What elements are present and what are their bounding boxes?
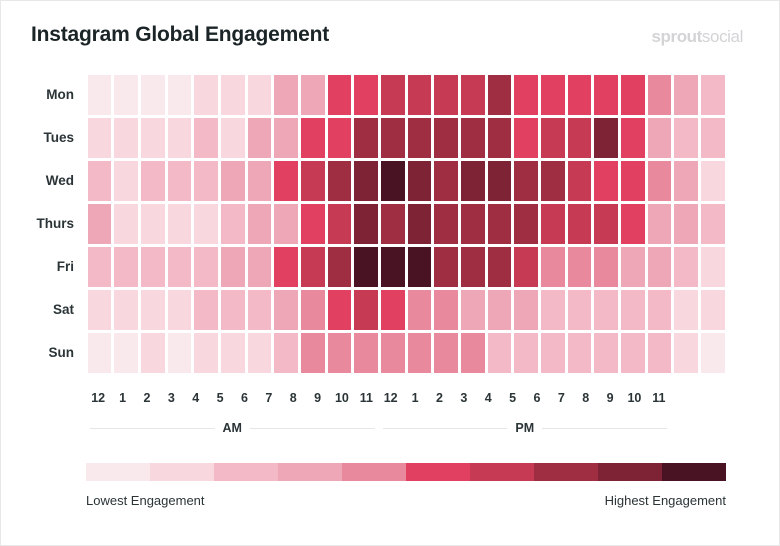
heatmap-cell[interactable]	[301, 118, 325, 158]
heatmap-cell[interactable]	[301, 247, 325, 287]
am-rule-left	[90, 428, 215, 429]
heatmap-cell[interactable]	[461, 290, 485, 330]
chart-card: Instagram Global Engagement sproutsocial…	[0, 0, 780, 546]
pm-rule-right	[542, 428, 667, 429]
heatmap-cell[interactable]	[168, 247, 192, 287]
heatmap-cell[interactable]	[274, 333, 298, 373]
heatmap-cell[interactable]	[328, 118, 352, 158]
heatmap-cell[interactable]	[701, 75, 725, 115]
heatmap-cell[interactable]	[328, 204, 352, 244]
heatmap-cell[interactable]	[194, 75, 218, 115]
heatmap-cell[interactable]	[674, 75, 698, 115]
heatmap-cell[interactable]	[461, 118, 485, 158]
heatmap-cell[interactable]	[434, 247, 458, 287]
heatmap-cell[interactable]	[674, 333, 698, 373]
heatmap-cell[interactable]	[461, 247, 485, 287]
heatmap-cell[interactable]	[248, 118, 272, 158]
heatmap-cell[interactable]	[541, 333, 565, 373]
heatmap-cell[interactable]	[88, 247, 112, 287]
heatmap-cell[interactable]	[88, 333, 112, 373]
hour-tick-7: 7	[257, 391, 281, 415]
heatmap-cell[interactable]	[328, 247, 352, 287]
heatmap-cell[interactable]	[168, 161, 192, 201]
heatmap-cell[interactable]	[354, 247, 378, 287]
brand-name-light: social	[702, 27, 743, 46]
heatmap-cell[interactable]	[594, 75, 618, 115]
legend-swatch-4	[342, 463, 406, 481]
hour-tick-2: 2	[135, 391, 159, 415]
hour-tick-18: 6	[525, 391, 549, 415]
heatmap-cell[interactable]	[114, 333, 138, 373]
hour-tick-19: 7	[549, 391, 573, 415]
heatmap-cell[interactable]	[221, 247, 245, 287]
heatmap-cell[interactable]	[354, 290, 378, 330]
legend-swatch-8	[598, 463, 662, 481]
heatmap-cell[interactable]	[354, 75, 378, 115]
heatmap-cell[interactable]	[141, 161, 165, 201]
heatmap-cell[interactable]	[248, 161, 272, 201]
heatmap-cell[interactable]	[381, 333, 405, 373]
heatmap-cell[interactable]	[488, 204, 512, 244]
hour-tick-1: 1	[110, 391, 134, 415]
heatmap-cell[interactable]	[88, 161, 112, 201]
hour-tick-12: 12	[379, 391, 403, 415]
heatmap-cell[interactable]	[648, 204, 672, 244]
day-label-tues: Tues	[1, 116, 86, 159]
heatmap-cell[interactable]	[674, 247, 698, 287]
heatmap-cell[interactable]	[594, 204, 618, 244]
day-label-thurs: Thurs	[1, 202, 86, 245]
heatmap-cell[interactable]	[381, 118, 405, 158]
heatmap-cell[interactable]	[568, 333, 592, 373]
hour-tick-14: 2	[427, 391, 451, 415]
heatmap-cell[interactable]	[621, 75, 645, 115]
sproutsocial-logo: sproutsocial	[651, 27, 743, 47]
heatmap-cell[interactable]	[328, 161, 352, 201]
color-legend: Lowest Engagement Highest Engagement	[86, 463, 726, 508]
legend-swatch-3	[278, 463, 342, 481]
heatmap-cell[interactable]	[648, 290, 672, 330]
heatmap-cell[interactable]	[514, 290, 538, 330]
heatmap-cell[interactable]	[274, 161, 298, 201]
heatmap-cell[interactable]	[301, 333, 325, 373]
heatmap-cell[interactable]	[408, 118, 432, 158]
day-label-mon: Mon	[1, 73, 86, 116]
heatmap-cell[interactable]	[621, 290, 645, 330]
heatmap-cell[interactable]	[274, 290, 298, 330]
heatmap-cell[interactable]	[168, 75, 192, 115]
heatmap-cell[interactable]	[328, 333, 352, 373]
heatmap-cell[interactable]	[408, 161, 432, 201]
heatmap-row-cells	[86, 245, 780, 288]
heatmap-cell[interactable]	[488, 118, 512, 158]
am-rule-right	[250, 428, 375, 429]
legend-swatch-2	[214, 463, 278, 481]
heatmap-cell[interactable]	[514, 247, 538, 287]
heatmap-cell[interactable]	[648, 247, 672, 287]
heatmap-cell[interactable]	[274, 204, 298, 244]
heatmap-cell[interactable]	[514, 333, 538, 373]
heatmap-cell[interactable]	[621, 247, 645, 287]
heatmap-cell[interactable]	[88, 290, 112, 330]
heatmap-cell[interactable]	[701, 204, 725, 244]
pm-group: PM	[379, 417, 672, 439]
heatmap-cell[interactable]	[674, 161, 698, 201]
hour-tick-21: 9	[598, 391, 622, 415]
day-label-sat: Sat	[1, 288, 86, 331]
day-label-sun: Sun	[1, 331, 86, 374]
heatmap-cell[interactable]	[248, 75, 272, 115]
legend-swatch-7	[534, 463, 598, 481]
heatmap-cell[interactable]	[568, 75, 592, 115]
heatmap-cell[interactable]	[194, 161, 218, 201]
am-label: AM	[223, 421, 242, 435]
heatmap-cell[interactable]	[701, 118, 725, 158]
heatmap-cell[interactable]	[354, 333, 378, 373]
heatmap-cell[interactable]	[381, 247, 405, 287]
legend-gradient-bar	[86, 463, 726, 481]
legend-swatch-5	[406, 463, 470, 481]
hour-tick-16: 4	[476, 391, 500, 415]
heatmap-cell[interactable]	[674, 204, 698, 244]
heatmap-cell[interactable]	[594, 118, 618, 158]
heatmap-cell[interactable]	[408, 290, 432, 330]
heatmap-cell[interactable]	[541, 247, 565, 287]
heatmap-cell[interactable]	[168, 118, 192, 158]
heatmap-row: Sat	[1, 288, 780, 331]
legend-swatch-6	[470, 463, 534, 481]
heatmap-cell[interactable]	[488, 290, 512, 330]
heatmap-cell[interactable]	[701, 333, 725, 373]
hour-tick-23: 11	[647, 391, 671, 415]
heatmap-cell[interactable]	[408, 75, 432, 115]
heatmap-cell[interactable]	[141, 118, 165, 158]
heatmap-cell[interactable]	[328, 290, 352, 330]
heatmap-cell[interactable]	[248, 204, 272, 244]
heatmap-cell[interactable]	[621, 204, 645, 244]
chart-header: Instagram Global Engagement sproutsocial	[1, 1, 780, 73]
heatmap-row: Fri	[1, 245, 780, 288]
heatmap-cell[interactable]	[141, 247, 165, 287]
heatmap-row: Tues	[1, 116, 780, 159]
heatmap-cell[interactable]	[434, 75, 458, 115]
pm-label: PM	[515, 421, 534, 435]
heatmap-cell[interactable]	[408, 204, 432, 244]
heatmap-cell[interactable]	[594, 290, 618, 330]
hour-tick-5: 5	[208, 391, 232, 415]
heatmap-cell[interactable]	[114, 204, 138, 244]
legend-swatch-1	[150, 463, 214, 481]
heatmap-cell[interactable]	[434, 204, 458, 244]
heatmap-cell[interactable]	[541, 75, 565, 115]
heatmap-cell[interactable]	[274, 118, 298, 158]
heatmap-cell[interactable]	[701, 247, 725, 287]
heatmap-cell[interactable]	[434, 290, 458, 330]
heatmap-cell[interactable]	[461, 161, 485, 201]
heatmap-row: Mon	[1, 73, 780, 116]
heatmap-cell[interactable]	[568, 204, 592, 244]
heatmap-cell[interactable]	[621, 161, 645, 201]
heatmap-cell[interactable]	[434, 161, 458, 201]
heatmap-cell[interactable]	[221, 118, 245, 158]
hour-tick-17: 5	[500, 391, 524, 415]
hour-tick-22: 10	[622, 391, 646, 415]
heatmap-cell[interactable]	[381, 75, 405, 115]
heatmap-cell[interactable]	[514, 161, 538, 201]
heatmap-row: Thurs	[1, 202, 780, 245]
heatmap-cell[interactable]	[328, 75, 352, 115]
heatmap-cell[interactable]	[354, 118, 378, 158]
heatmap-cell[interactable]	[114, 247, 138, 287]
day-label-fri: Fri	[1, 245, 86, 288]
heatmap-cell[interactable]	[408, 247, 432, 287]
heatmap-cell[interactable]	[114, 290, 138, 330]
day-label-wed: Wed	[1, 159, 86, 202]
heatmap-cell[interactable]	[248, 290, 272, 330]
heatmap-row: Wed	[1, 159, 780, 202]
hour-tick-13: 1	[403, 391, 427, 415]
heatmap-cell[interactable]	[488, 333, 512, 373]
heatmap-cell[interactable]	[514, 118, 538, 158]
heatmap-cell[interactable]	[248, 247, 272, 287]
legend-swatch-0	[86, 463, 150, 481]
heatmap-cell[interactable]	[221, 290, 245, 330]
heatmap-cell[interactable]	[648, 161, 672, 201]
heatmap-cell[interactable]	[248, 333, 272, 373]
heatmap-cell[interactable]	[274, 247, 298, 287]
legend-swatch-9	[662, 463, 726, 481]
heatmap-cell[interactable]	[408, 333, 432, 373]
heatmap-cell[interactable]	[381, 290, 405, 330]
heatmap-cell[interactable]	[621, 118, 645, 158]
heatmap-cell[interactable]	[88, 75, 112, 115]
heatmap-cell[interactable]	[168, 290, 192, 330]
heatmap-row-cells	[86, 159, 780, 202]
page-title: Instagram Global Engagement	[31, 23, 329, 47]
heatmap-row-cells	[86, 116, 780, 159]
heatmap-cell[interactable]	[354, 204, 378, 244]
heatmap-cell[interactable]	[594, 247, 618, 287]
heatmap-cell[interactable]	[221, 75, 245, 115]
heatmap-cell[interactable]	[141, 333, 165, 373]
heatmap-cell[interactable]	[114, 118, 138, 158]
heatmap-cell[interactable]	[701, 290, 725, 330]
heatmap-cell[interactable]	[301, 75, 325, 115]
heatmap-cell[interactable]	[488, 161, 512, 201]
heatmap-cell[interactable]	[541, 204, 565, 244]
heatmap-cell[interactable]	[541, 161, 565, 201]
heatmap-cell[interactable]	[221, 204, 245, 244]
heatmap-cell[interactable]	[141, 290, 165, 330]
heatmap-cell[interactable]	[381, 161, 405, 201]
heatmap-row-cells	[86, 288, 780, 331]
heatmap-cell[interactable]	[168, 204, 192, 244]
heatmap-cell[interactable]	[568, 290, 592, 330]
heatmap-cell[interactable]	[114, 75, 138, 115]
heatmap-cell[interactable]	[274, 75, 298, 115]
hour-tick-3: 3	[159, 391, 183, 415]
heatmap-cell[interactable]	[674, 118, 698, 158]
hour-tick-20: 8	[574, 391, 598, 415]
hour-tick-8: 8	[281, 391, 305, 415]
hour-tick-0: 12	[86, 391, 110, 415]
heatmap-cell[interactable]	[674, 290, 698, 330]
heatmap-cell[interactable]	[594, 333, 618, 373]
heatmap-cell[interactable]	[461, 333, 485, 373]
brand-name-bold: sprout	[651, 27, 701, 46]
heatmap-cell[interactable]	[221, 333, 245, 373]
heatmap-cell[interactable]	[141, 75, 165, 115]
heatmap-cell[interactable]	[434, 333, 458, 373]
heatmap-cell[interactable]	[381, 204, 405, 244]
heatmap-cell[interactable]	[88, 118, 112, 158]
hour-axis: 121234567891011121234567891011	[86, 391, 726, 415]
heatmap-cell[interactable]	[221, 161, 245, 201]
legend-labels: Lowest Engagement Highest Engagement	[86, 493, 726, 508]
hour-tick-4: 4	[184, 391, 208, 415]
hour-tick-11: 11	[354, 391, 378, 415]
heatmap-cell[interactable]	[701, 161, 725, 201]
heatmap-cell[interactable]	[114, 161, 138, 201]
hour-tick-15: 3	[452, 391, 476, 415]
heatmap-cell[interactable]	[434, 118, 458, 158]
pm-rule-left	[383, 428, 508, 429]
heatmap-cell[interactable]	[461, 204, 485, 244]
heatmap-cell[interactable]	[621, 333, 645, 373]
heatmap-cell[interactable]	[648, 118, 672, 158]
heatmap-cell[interactable]	[648, 333, 672, 373]
heatmap-row-cells	[86, 331, 780, 374]
heatmap-cell[interactable]	[568, 161, 592, 201]
heatmap-cell[interactable]	[488, 247, 512, 287]
am-group: AM	[86, 417, 379, 439]
heatmap-grid: MonTuesWedThursFriSatSun	[1, 73, 780, 391]
heatmap-cell[interactable]	[488, 75, 512, 115]
heatmap-cell[interactable]	[568, 247, 592, 287]
heatmap-cell[interactable]	[194, 204, 218, 244]
heatmap-cell[interactable]	[88, 204, 112, 244]
hour-tick-9: 9	[305, 391, 329, 415]
hour-tick-10: 10	[330, 391, 354, 415]
heatmap-cell[interactable]	[141, 204, 165, 244]
heatmap-cell[interactable]	[301, 161, 325, 201]
heatmap-cell[interactable]	[194, 290, 218, 330]
heatmap-cell[interactable]	[301, 290, 325, 330]
heatmap-cell[interactable]	[194, 333, 218, 373]
heatmap-cell[interactable]	[541, 290, 565, 330]
heatmap-cell[interactable]	[514, 75, 538, 115]
heatmap-row-cells	[86, 202, 780, 245]
ampm-axis: AM PM	[86, 417, 726, 439]
legend-high-label: Highest Engagement	[605, 493, 726, 508]
heatmap-cell[interactable]	[354, 161, 378, 201]
legend-low-label: Lowest Engagement	[86, 493, 205, 508]
heatmap-cell[interactable]	[194, 247, 218, 287]
heatmap-cell[interactable]	[568, 118, 592, 158]
hour-tick-6: 6	[232, 391, 256, 415]
heatmap-cell[interactable]	[594, 161, 618, 201]
heatmap-cell[interactable]	[194, 118, 218, 158]
heatmap-cell[interactable]	[168, 333, 192, 373]
heatmap-cell[interactable]	[648, 75, 672, 115]
heatmap-cell[interactable]	[301, 204, 325, 244]
heatmap-cell[interactable]	[541, 118, 565, 158]
heatmap-cell[interactable]	[514, 204, 538, 244]
heatmap-row: Sun	[1, 331, 780, 374]
heatmap-cell[interactable]	[461, 75, 485, 115]
heatmap-row-cells	[86, 73, 780, 116]
